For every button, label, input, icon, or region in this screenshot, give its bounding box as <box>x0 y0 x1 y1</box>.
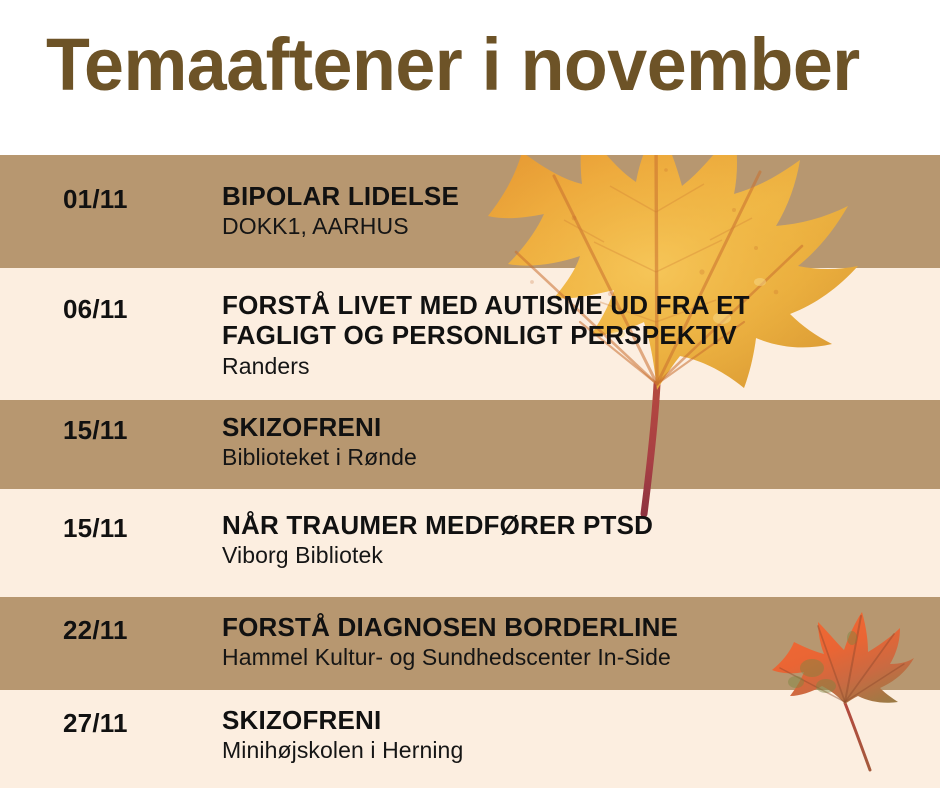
event-title: BIPOLAR LIDELSE <box>222 181 862 211</box>
event-title: FORSTÅ DIAGNOSEN BORDERLINE <box>222 612 862 642</box>
event-row[interactable]: 27/11 SKIZOFRENI Minihøjskolen i Herning <box>0 690 940 788</box>
event-row[interactable]: 22/11 FORSTÅ DIAGNOSEN BORDERLINE Hammel… <box>0 597 940 690</box>
event-title: SKIZOFRENI <box>222 412 862 442</box>
event-title: NÅR TRAUMER MEDFØRER PTSD <box>222 510 862 540</box>
event-place: Biblioteket i Rønde <box>222 444 862 472</box>
event-title: FORSTÅ LIVET MED AUTISME UD FRA ET FAGLI… <box>222 290 862 351</box>
event-place: DOKK1, AARHUS <box>222 213 862 241</box>
event-details: FORSTÅ LIVET MED AUTISME UD FRA ET FAGLI… <box>222 290 862 380</box>
event-place: Hammel Kultur- og Sundhedscenter In-Side <box>222 644 862 672</box>
event-row[interactable]: 15/11 NÅR TRAUMER MEDFØRER PTSD Viborg B… <box>0 489 940 597</box>
event-row[interactable]: 15/11 SKIZOFRENI Biblioteket i Rønde <box>0 400 940 489</box>
event-details: BIPOLAR LIDELSE DOKK1, AARHUS <box>222 181 862 241</box>
poster-header: Temaaftener i november <box>0 0 940 155</box>
event-place: Viborg Bibliotek <box>222 542 862 570</box>
event-details: SKIZOFRENI Biblioteket i Rønde <box>222 412 862 472</box>
event-place: Randers <box>222 353 862 381</box>
event-details: SKIZOFRENI Minihøjskolen i Herning <box>222 705 862 765</box>
poster-canvas: Temaaftener i november 01/11 BIPOLAR LID… <box>0 0 940 788</box>
event-date: 15/11 <box>63 415 128 446</box>
event-date: 22/11 <box>63 615 128 646</box>
event-date: 06/11 <box>63 294 128 325</box>
event-details: FORSTÅ DIAGNOSEN BORDERLINE Hammel Kultu… <box>222 612 862 672</box>
page-title: Temaaftener i november <box>46 28 860 102</box>
event-date: 15/11 <box>63 513 128 544</box>
event-details: NÅR TRAUMER MEDFØRER PTSD Viborg Bibliot… <box>222 510 862 570</box>
event-title: SKIZOFRENI <box>222 705 862 735</box>
event-row[interactable]: 01/11 BIPOLAR LIDELSE DOKK1, AARHUS <box>0 155 940 268</box>
event-place: Minihøjskolen i Herning <box>222 737 862 765</box>
event-date: 27/11 <box>63 708 128 739</box>
event-date: 01/11 <box>63 184 128 215</box>
event-row[interactable]: 06/11 FORSTÅ LIVET MED AUTISME UD FRA ET… <box>0 268 940 400</box>
